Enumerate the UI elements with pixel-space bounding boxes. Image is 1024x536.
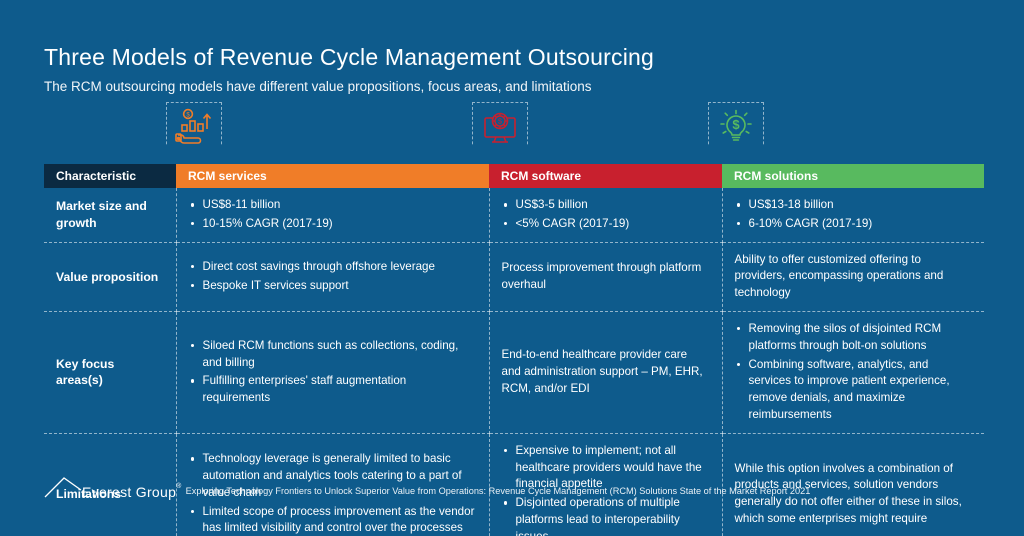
bullet-item: Disjointed operations of multiple platfo…	[502, 495, 710, 536]
cell-services: US$8-11 billion10-15% CAGR (2017-19)	[176, 188, 489, 242]
chevron-up-icon	[44, 476, 82, 498]
page-title: Three Models of Revenue Cycle Management…	[44, 44, 984, 72]
bullet-item: Combining software, analytics, and servi…	[735, 357, 973, 424]
bullet-item: Removing the silos of disjointed RCM pla…	[735, 321, 973, 355]
monitor-gear-dollar-icon: $	[472, 108, 528, 146]
table-row: Key focus areas(s)Siloed RCM functions s…	[44, 311, 984, 433]
page-subtitle: The RCM outsourcing models have differen…	[44, 79, 984, 96]
cell-solutions: Ability to offer customized offering to …	[722, 242, 984, 311]
table-row: Market size and growthUS$8-11 billion10-…	[44, 188, 984, 242]
bullet-list: US$13-18 billion6-10% CAGR (2017-19)	[735, 197, 973, 233]
hand-bar-chart-dollar-icon: $	[166, 108, 222, 146]
bullet-item: US$8-11 billion	[189, 197, 477, 214]
bullet-item: Siloed RCM functions such as collections…	[189, 338, 477, 372]
bullet-item: Direct cost savings through offshore lev…	[189, 259, 477, 276]
cell-solutions: Removing the silos of disjointed RCM pla…	[722, 311, 984, 433]
bullet-item: <5% CAGR (2017-19)	[502, 216, 710, 233]
cell-paragraph: Ability to offer customized offering to …	[735, 252, 973, 302]
badge-pointer	[166, 144, 222, 166]
bullet-item: 6-10% CAGR (2017-19)	[735, 216, 973, 233]
cell-software: US$3-5 billion<5% CAGR (2017-19)	[489, 188, 722, 242]
bullet-item: US$3-5 billion	[502, 197, 710, 214]
column-header-rcm-solutions: RCM solutions	[722, 164, 984, 188]
badge-pointer	[708, 144, 764, 166]
column-header-rcm-software: RCM software	[489, 164, 722, 188]
title-block: Three Models of Revenue Cycle Management…	[44, 44, 984, 95]
cell-solutions: US$13-18 billion6-10% CAGR (2017-19)	[722, 188, 984, 242]
column-header-rcm-services: RCM services	[176, 164, 489, 188]
bullet-list: Siloed RCM functions such as collections…	[189, 338, 477, 407]
cell-paragraph: End-to-end healthcare provider care and …	[502, 347, 710, 397]
cell-services: Direct cost savings through offshore lev…	[176, 242, 489, 311]
bullet-item: 10-15% CAGR (2017-19)	[189, 216, 477, 233]
table-header-row: Characteristic RCM services RCM software…	[44, 164, 984, 188]
badge-pointer	[472, 144, 528, 166]
row-label: Market size and growth	[44, 188, 176, 242]
bullet-item: US$13-18 billion	[735, 197, 973, 214]
everest-group-logo: Everest Group®	[44, 476, 182, 498]
bullet-list: US$3-5 billion<5% CAGR (2017-19)	[502, 197, 710, 233]
badge-rcm-solutions: $	[708, 102, 764, 164]
bullet-item: Fulfilling enterprises' staff augmentati…	[189, 373, 477, 407]
column-header-characteristic: Characteristic	[44, 164, 176, 188]
cell-paragraph: Process improvement through platform ove…	[502, 260, 710, 294]
lightbulb-dollar-icon: $	[708, 108, 764, 146]
table-row: Value propositionDirect cost savings thr…	[44, 242, 984, 311]
logo-text: Everest Group®	[82, 485, 182, 499]
row-label: Value proposition	[44, 242, 176, 311]
bullet-list: US$8-11 billion10-15% CAGR (2017-19)	[189, 197, 477, 233]
svg-text:$: $	[732, 117, 740, 132]
source-note: Exploring Technology Frontiers to Unlock…	[186, 486, 811, 498]
bullet-list: Direct cost savings through offshore lev…	[189, 259, 477, 295]
badge-rcm-software: $	[472, 102, 528, 164]
cell-software: Process improvement through platform ove…	[489, 242, 722, 311]
bullet-item: Limited scope of process improvement as …	[189, 504, 477, 536]
cell-services: Siloed RCM functions such as collections…	[176, 311, 489, 433]
row-label: Key focus areas(s)	[44, 311, 176, 433]
cell-software: End-to-end healthcare provider care and …	[489, 311, 722, 433]
bullet-item: Bespoke IT services support	[189, 278, 477, 295]
bullet-list: Removing the silos of disjointed RCM pla…	[735, 321, 973, 424]
badge-rcm-services: $	[166, 102, 222, 164]
footer: Everest Group® Exploring Technology Fron…	[44, 476, 984, 498]
